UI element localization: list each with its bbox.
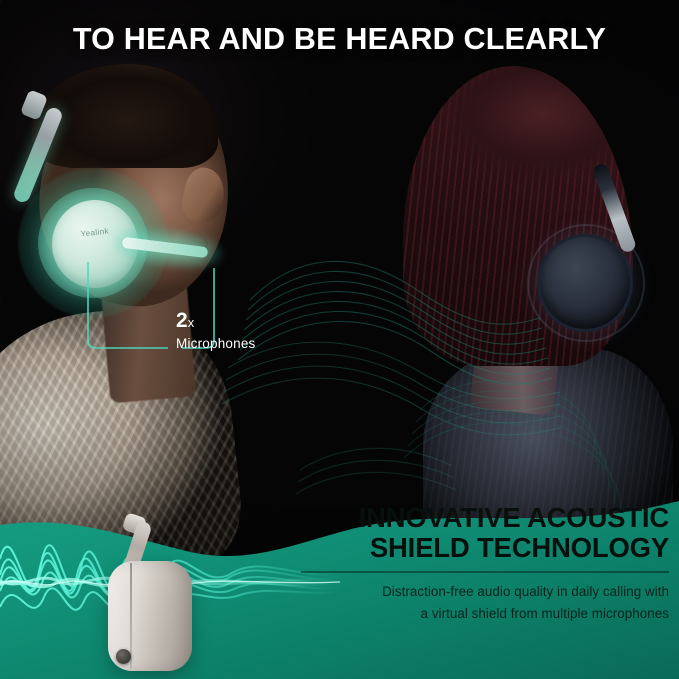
- microphone-count-value: 2: [176, 309, 188, 332]
- feature-subtitle-line-1: Distraction-free audio quality in daily …: [297, 581, 669, 603]
- microphone-callout-label: 2x Microphones: [176, 310, 256, 351]
- feature-title-line-2: SHIELD TECHNOLOGY: [297, 533, 669, 563]
- microphone-count-suffix: x: [188, 315, 195, 330]
- feature-divider: [301, 571, 669, 573]
- hero-photo-scene: Yealink: [0, 0, 679, 560]
- feature-panel: INNOVATIVE ACOUSTIC SHIELD TECHNOLOGY Di…: [0, 479, 679, 679]
- feature-panel-text: INNOVATIVE ACOUSTIC SHIELD TECHNOLOGY Di…: [297, 503, 669, 625]
- soundwave-ripple-overlay: [0, 0, 679, 560]
- microphone-label-text: Microphones: [176, 336, 256, 351]
- feature-title-line-1: INNOVATIVE ACOUSTIC: [297, 503, 669, 533]
- product-marketing-poster: Yealink: [0, 0, 679, 679]
- page-headline: TO HEAR AND BE HEARD CLEARLY: [0, 22, 679, 57]
- feature-subtitle-line-2: a virtual shield from multiple microphon…: [297, 603, 669, 625]
- product-headphone-earcup: [100, 521, 210, 671]
- product-earcup-button: [116, 649, 131, 664]
- microphone-count: 2x: [176, 310, 256, 331]
